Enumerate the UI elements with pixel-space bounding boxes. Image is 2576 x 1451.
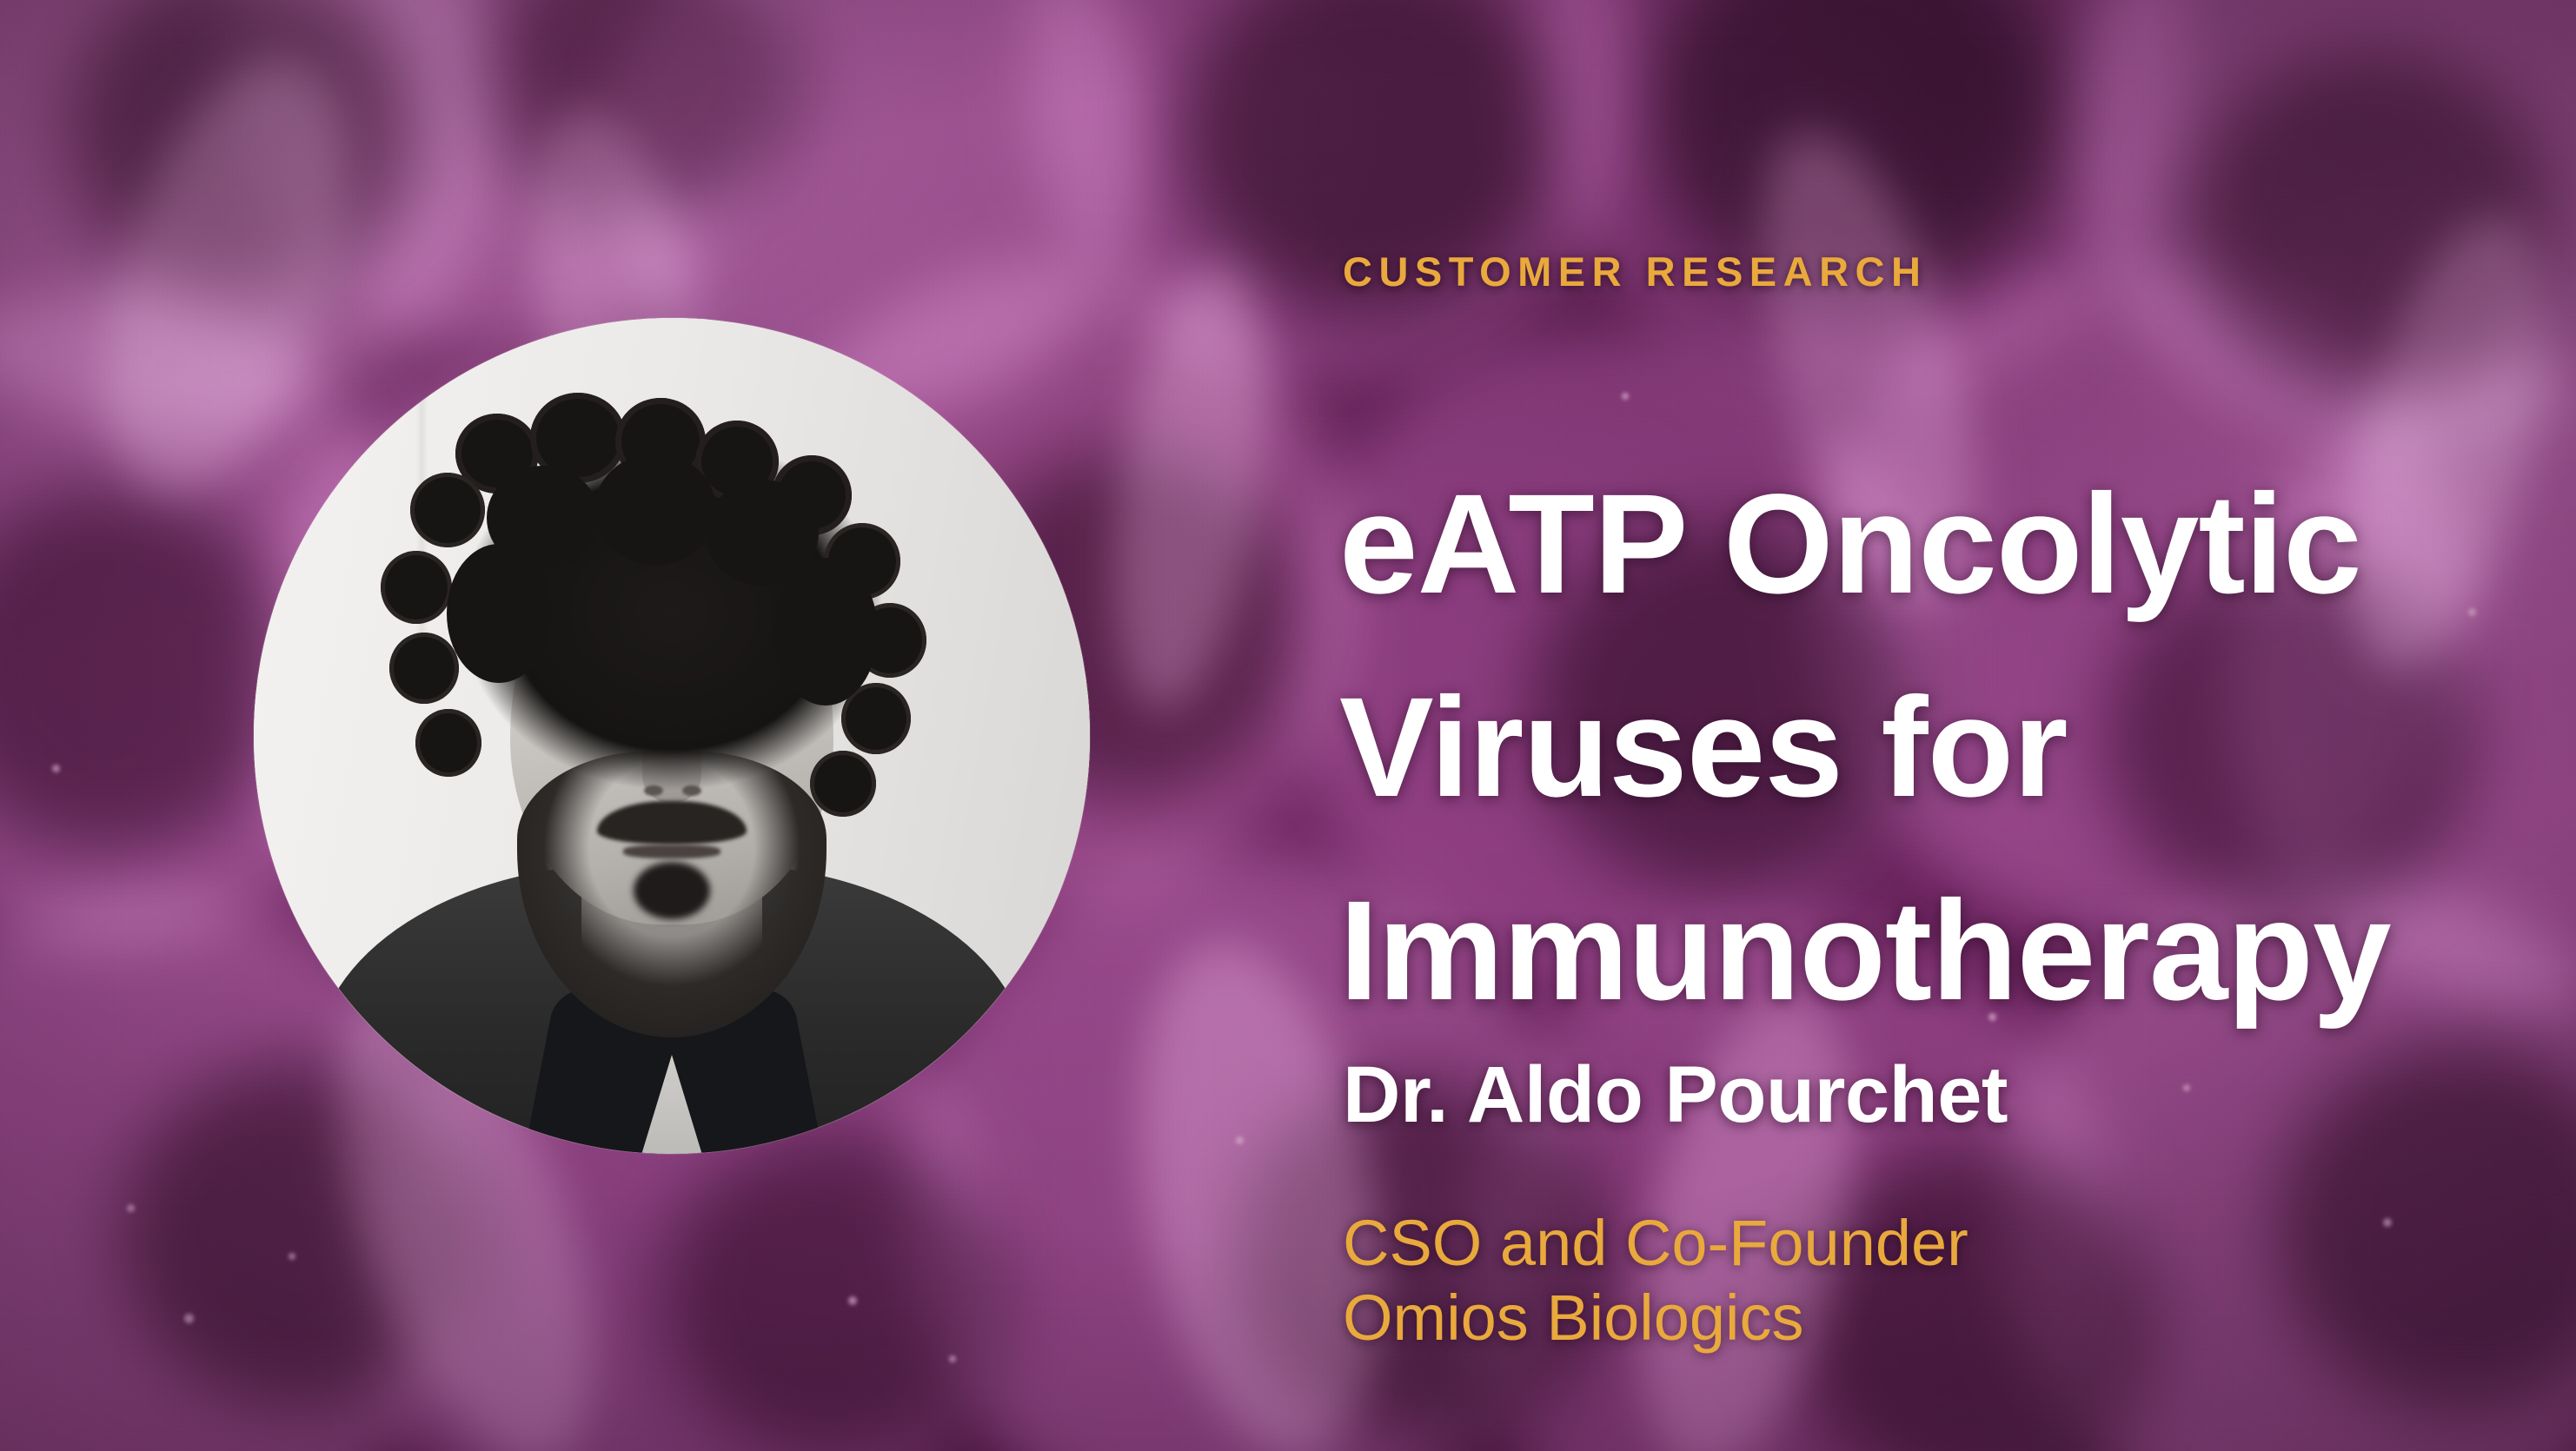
texture-speck: [289, 1253, 295, 1260]
cell-nucleus: [661, 1130, 1008, 1451]
title-line-3: Immunotherapy: [1339, 849, 2556, 1052]
slide-text-column: CUSTOMER RESEARCH eATP Oncolytic Viruses…: [1343, 0, 2542, 1451]
texture-speck: [848, 1296, 857, 1305]
hair-curl: [389, 633, 459, 704]
speaker-chin: [634, 862, 710, 919]
speaker-mouth: [623, 845, 720, 858]
speaker-avatar: [254, 318, 1090, 1154]
speaker-photo: [254, 318, 1090, 1154]
texture-speck: [184, 1314, 194, 1323]
hair-curl: [810, 751, 876, 817]
texture-speck: [52, 765, 60, 772]
speaker-role: CSO and Co-Founder Omios Biologics: [1343, 1206, 1969, 1355]
hair-curl: [410, 473, 485, 547]
hair-curl: [381, 551, 452, 624]
title-line-2: Viruses for: [1339, 646, 2556, 849]
title-slide: CUSTOMER RESEARCH eATP Oncolytic Viruses…: [0, 0, 2576, 1451]
slide-title: eATP Oncolytic Viruses for Immunotherapy: [1339, 442, 2556, 1052]
texture-speck: [949, 1355, 956, 1362]
hair-curl: [773, 558, 878, 706]
hair-curl: [415, 709, 481, 777]
speaker-role-line-2: Omios Biologics: [1343, 1281, 1969, 1355]
hair-curl: [447, 544, 551, 683]
slide-eyebrow: CUSTOMER RESEARCH: [1343, 248, 1927, 295]
speaker-name: Dr. Aldo Pourchet: [1343, 1050, 2008, 1141]
texture-speck: [1236, 1136, 1244, 1144]
texture-speck: [127, 1204, 135, 1212]
hair-curl: [594, 454, 716, 565]
speaker-role-line-1: CSO and Co-Founder: [1343, 1206, 1969, 1281]
title-line-1: eATP Oncolytic: [1339, 442, 2556, 646]
